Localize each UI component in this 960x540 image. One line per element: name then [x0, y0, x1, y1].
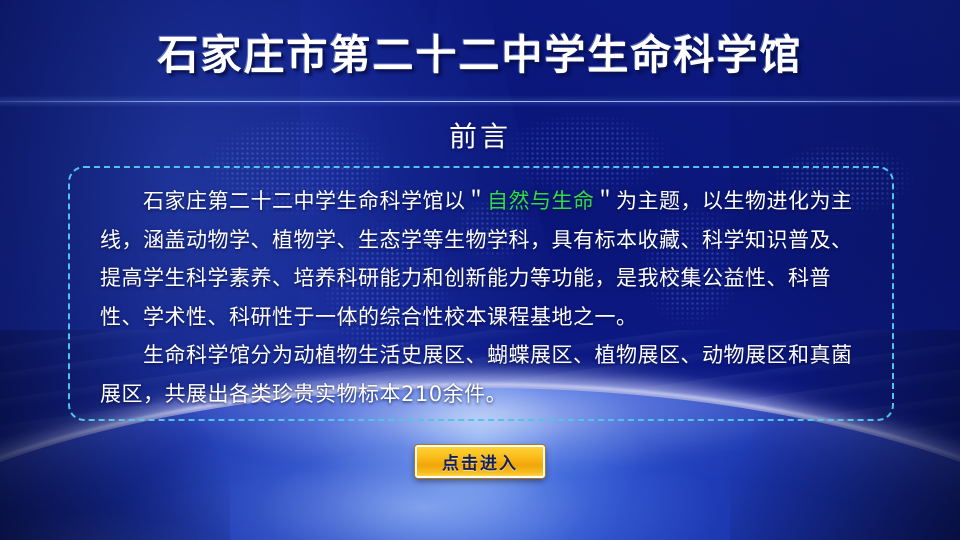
preface-paragraph-2: 生命科学馆分为动植物生活史展区、蝴蝶展区、植物展区、动物展区和真菌展区，共展出各…: [100, 336, 862, 413]
preface-paragraph-1: 石家庄第二十二中学生命科学馆以＂自然与生命＂为主题，以生物进化为主线，涵盖动物学…: [100, 182, 862, 336]
presentation-slide: 石家庄市第二十二中学生命科学馆 前言 石家庄第二十二中学生命科学馆以＂自然与生命…: [0, 0, 960, 540]
highlighted-theme-text: 自然与生命: [487, 189, 595, 213]
preface-content-box: 石家庄第二十二中学生命科学馆以＂自然与生命＂为主题，以生物进化为主线，涵盖动物学…: [68, 166, 894, 421]
paragraph-text-segment-1: 生命科学馆分为动植物生活史展区、蝴蝶展区、植物展区、动物展区和真菌展区，共展出各…: [100, 343, 853, 406]
enter-button[interactable]: 点击进入: [415, 445, 545, 478]
title-band: 石家庄市第二十二中学生命科学馆: [0, 0, 960, 101]
header-divider-line: [0, 101, 960, 102]
paragraph-indent: [100, 189, 143, 213]
paragraph-indent: [100, 343, 143, 367]
page-title: 石家庄市第二十二中学生命科学馆: [158, 21, 803, 81]
section-subtitle: 前言: [0, 115, 960, 155]
paragraph-text-segment-1: 石家庄第二十二中学生命科学馆以＂: [143, 189, 487, 213]
enter-button-label: 点击进入: [442, 449, 518, 474]
